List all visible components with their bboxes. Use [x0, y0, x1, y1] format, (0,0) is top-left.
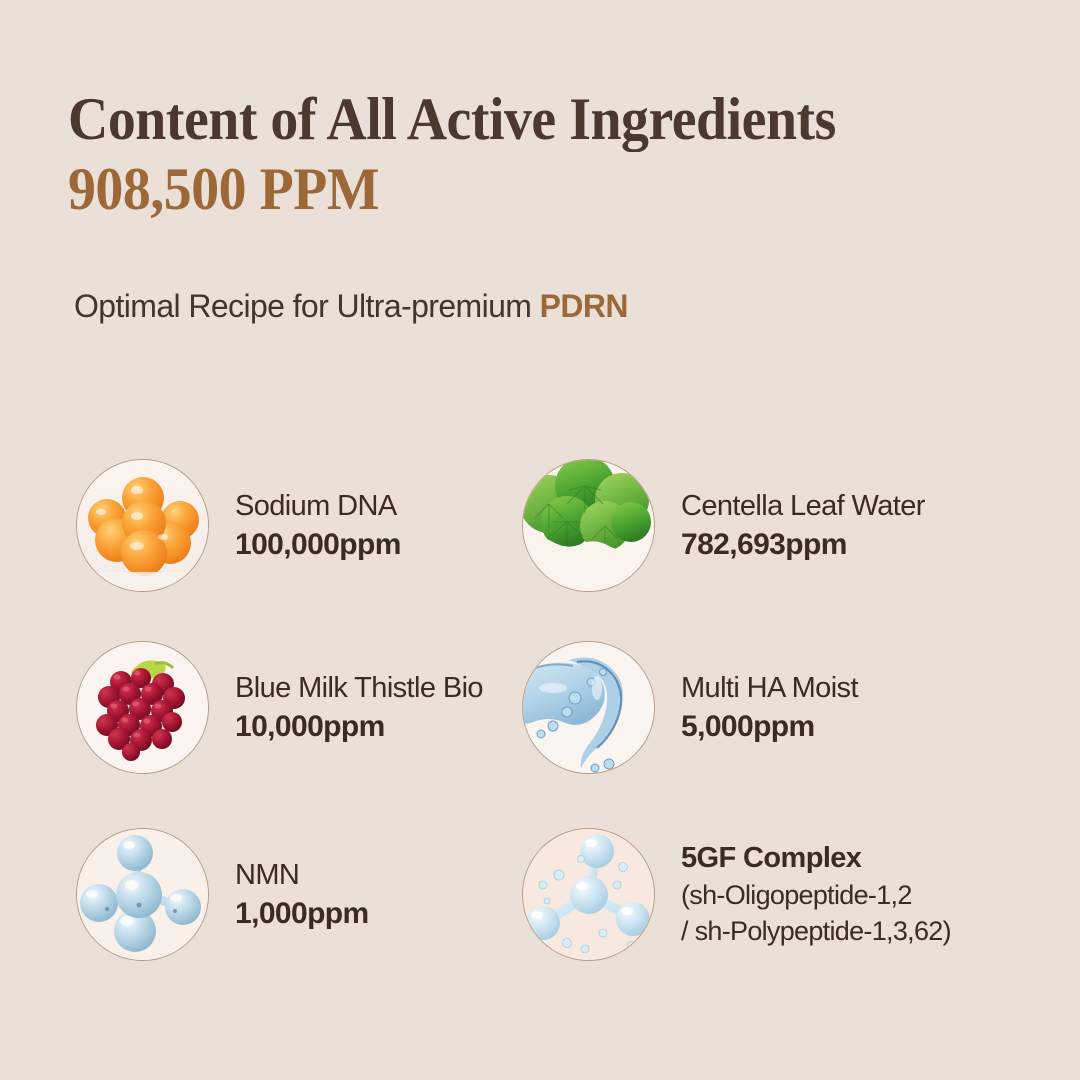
- ingredient-labels: Centella Leaf Water 782,693ppm: [681, 487, 925, 565]
- green-centella-leaves-icon: [522, 459, 655, 592]
- ingredient-name: Centella Leaf Water: [681, 487, 925, 525]
- ingredient-item-centella-leaf-water: Centella Leaf Water 782,693ppm: [522, 459, 925, 592]
- ingredient-infographic: Content of All Active Ingredients 908,50…: [0, 0, 1080, 1080]
- ingredient-name: 5GF Complex: [681, 840, 951, 877]
- ingredient-labels: 5GF Complex (sh-Oligopeptide-1,2 / sh-Po…: [681, 840, 951, 949]
- ingredient-item-blue-milk-thistle-bio: Blue Milk Thistle Bio 10,000ppm: [76, 641, 483, 774]
- molecule-y-bubbles-icon: [522, 828, 655, 961]
- ingredient-item-5gf-complex: 5GF Complex (sh-Oligopeptide-1,2 / sh-Po…: [522, 828, 951, 961]
- ingredient-name: NMN: [235, 856, 369, 894]
- ingredient-item-nmn: NMN 1,000ppm: [76, 828, 369, 961]
- ingredient-labels: Sodium DNA 100,000ppm: [235, 487, 401, 565]
- ingredient-sub-line-2: / sh-Polypeptide-1,3,62): [681, 913, 951, 949]
- ingredient-amount: 1,000ppm: [235, 894, 369, 934]
- ingredient-labels: Blue Milk Thistle Bio 10,000ppm: [235, 669, 483, 747]
- ingredient-labels: Multi HA Moist 5,000ppm: [681, 669, 858, 747]
- molecule-five-spheres-icon: [76, 828, 209, 961]
- ingredient-sub-line-1: (sh-Oligopeptide-1,2: [681, 877, 951, 913]
- ingredient-grid: Sodium DNA 100,000ppm: [0, 0, 1080, 1080]
- ingredient-amount: 10,000ppm: [235, 707, 483, 747]
- ingredient-amount: 5,000ppm: [681, 707, 858, 747]
- ingredient-item-multi-ha-moist: Multi HA Moist 5,000ppm: [522, 641, 858, 774]
- water-splash-icon: [522, 641, 655, 774]
- ingredient-labels: NMN 1,000ppm: [235, 856, 369, 934]
- ingredient-name: Sodium DNA: [235, 487, 401, 525]
- ingredient-name: Blue Milk Thistle Bio: [235, 669, 483, 707]
- red-berries-cluster-icon: [76, 641, 209, 774]
- ingredient-name: Multi HA Moist: [681, 669, 858, 707]
- ingredient-item-sodium-dna: Sodium DNA 100,000ppm: [76, 459, 401, 592]
- ingredient-amount: 100,000ppm: [235, 525, 401, 565]
- ingredient-amount: 782,693ppm: [681, 525, 925, 565]
- orange-roe-spheres-icon: [76, 459, 209, 592]
